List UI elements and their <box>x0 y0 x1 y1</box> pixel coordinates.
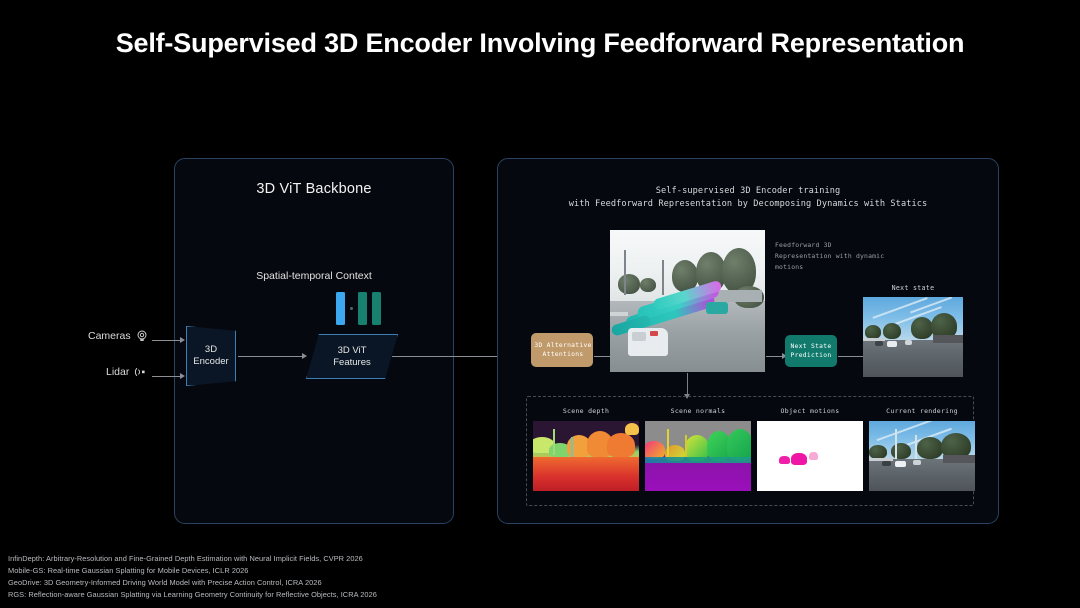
pole <box>915 435 917 459</box>
roadside-building <box>943 455 975 463</box>
lidar-arrow-line <box>152 376 181 377</box>
tree <box>891 443 911 459</box>
depth-pole <box>571 437 573 457</box>
scene-normals-label: Scene normals <box>645 407 751 415</box>
object-motions-label: Object motions <box>757 407 863 415</box>
attention-to-image-line <box>594 356 610 357</box>
object-motions-image <box>757 421 863 491</box>
spatial-temporal-context-label: Spatial-temporal Context <box>174 270 454 282</box>
car <box>905 340 912 345</box>
context-bar-3 <box>372 292 381 325</box>
nsp-to-next-state-line <box>838 356 863 357</box>
curb <box>863 338 885 341</box>
vit-line-2: Features <box>333 357 371 368</box>
current-rendering-label: Current rendering <box>869 407 975 415</box>
page-title: Self-Supervised 3D Encoder Involving Fee… <box>0 28 1080 59</box>
next-state-prediction-label: Next State Prediction <box>791 342 832 361</box>
citation-item: RGS: Reflection-aware Gaussian Splatting… <box>8 589 377 601</box>
ff-note-line-3: motions <box>775 262 910 273</box>
cameras-label: Cameras <box>88 330 131 342</box>
attn-line-2: Attentions <box>543 351 584 358</box>
tree <box>883 323 901 339</box>
tree <box>640 278 656 292</box>
ff-note-line-1: Feedforward 3D <box>775 240 910 251</box>
3d-encoder-label: 3D Encoder <box>193 344 228 368</box>
curb <box>869 458 893 461</box>
scene-depth-image <box>533 421 639 491</box>
feedforward-representation-image <box>610 230 765 372</box>
ff-note-line-2: Representation with dynamic <box>775 251 910 262</box>
pole <box>662 260 664 295</box>
encoder-line-2: Encoder <box>193 356 228 367</box>
context-separator-dot <box>350 307 353 310</box>
car <box>913 460 921 465</box>
car <box>895 461 906 467</box>
3d-alternative-attentions-block: 3D Alternative Attentions <box>531 333 593 367</box>
input-cameras: Cameras <box>88 330 148 342</box>
tree <box>917 437 943 459</box>
decomposed-outputs-group: Scene depth Scene normals <box>526 396 974 506</box>
encoder-line-1: 3D <box>205 344 217 355</box>
output-scene-depth: Scene depth <box>533 407 639 491</box>
spatial-temporal-context-bars <box>336 292 381 325</box>
lidar-label: Lidar <box>106 366 129 378</box>
right-panel-title-line-1: Self-supervised 3D Encoder training <box>656 186 841 196</box>
next-state-prediction-block: Next State Prediction <box>785 335 837 367</box>
depth-pole <box>553 429 555 455</box>
depth-blob <box>625 423 639 435</box>
roadside-building <box>933 335 963 343</box>
right-panel-title-line-2: with Feedforward Representation by Decom… <box>569 199 928 209</box>
lidar-wave-icon <box>134 366 150 378</box>
car <box>887 341 897 347</box>
gaussian-car-far <box>706 302 728 314</box>
tree <box>911 317 933 339</box>
scene-depth-label: Scene depth <box>533 407 639 415</box>
citation-item: Mobile-GS: Real-time Gaussian Splatting … <box>8 565 377 577</box>
current-rendering-image <box>869 421 975 491</box>
depth-road <box>533 457 639 491</box>
3d-vit-features-label: 3D ViT Features <box>333 345 371 369</box>
normals-pole <box>685 435 687 457</box>
camera-arrow-line <box>152 340 181 341</box>
citation-item: GeoDrive: 3D Geometry-Informed Driving W… <box>8 577 377 589</box>
depth-blob <box>607 433 635 457</box>
car <box>875 341 883 346</box>
next-state-label: Next state <box>863 284 963 292</box>
normals-pole <box>667 429 669 457</box>
vit-line-1: 3D ViT <box>338 345 367 356</box>
3d-encoder-block: 3D Encoder <box>186 326 236 386</box>
attn-line-1: 3D Alternative <box>534 342 591 349</box>
nsp-line-1: Next State <box>791 343 832 350</box>
car-window <box>632 332 646 341</box>
feedforward-note: Feedforward 3D Representation with dynam… <box>775 240 910 274</box>
left-panel-title: 3D ViT Backbone <box>175 181 453 197</box>
output-current-rendering: Current rendering <box>869 407 975 491</box>
output-scene-normals: Scene normals <box>645 407 751 491</box>
camera-arrow-head <box>180 337 185 343</box>
nsp-line-2: Prediction <box>791 352 832 359</box>
pole <box>624 250 626 295</box>
input-lidar: Lidar <box>106 366 150 378</box>
pole <box>895 429 897 459</box>
motion-blob <box>809 452 818 460</box>
context-bar-2 <box>358 292 367 325</box>
car-taillight <box>650 331 658 336</box>
3d-vit-features-block: 3D ViT Features <box>306 334 398 379</box>
tree <box>618 274 640 294</box>
image-to-nsp-arrow-line <box>766 356 783 357</box>
lidar-arrow-head <box>180 373 185 379</box>
motion-blob <box>791 453 807 465</box>
camera-icon <box>136 330 148 342</box>
tree <box>865 325 881 339</box>
citation-item: InfinDepth: Arbitrary-Resolution and Fin… <box>8 553 377 565</box>
car <box>882 461 891 466</box>
context-bar-1 <box>336 292 345 325</box>
tree <box>869 445 887 459</box>
output-object-motions: Object motions <box>757 407 863 491</box>
normals-edge <box>645 457 751 463</box>
scene-normals-image <box>645 421 751 491</box>
next-state-image <box>863 297 963 377</box>
encoder-to-vit-arrow-line <box>238 356 303 357</box>
curb <box>610 312 628 316</box>
3d-alternative-attentions-label: 3D Alternative Attentions <box>534 341 591 360</box>
motion-blob <box>779 456 790 464</box>
right-panel-title: Self-supervised 3D Encoder training with… <box>498 185 998 211</box>
encoder-to-vit-arrow-head <box>302 353 307 359</box>
citations-list: InfinDepth: Arbitrary-Resolution and Fin… <box>8 553 377 601</box>
